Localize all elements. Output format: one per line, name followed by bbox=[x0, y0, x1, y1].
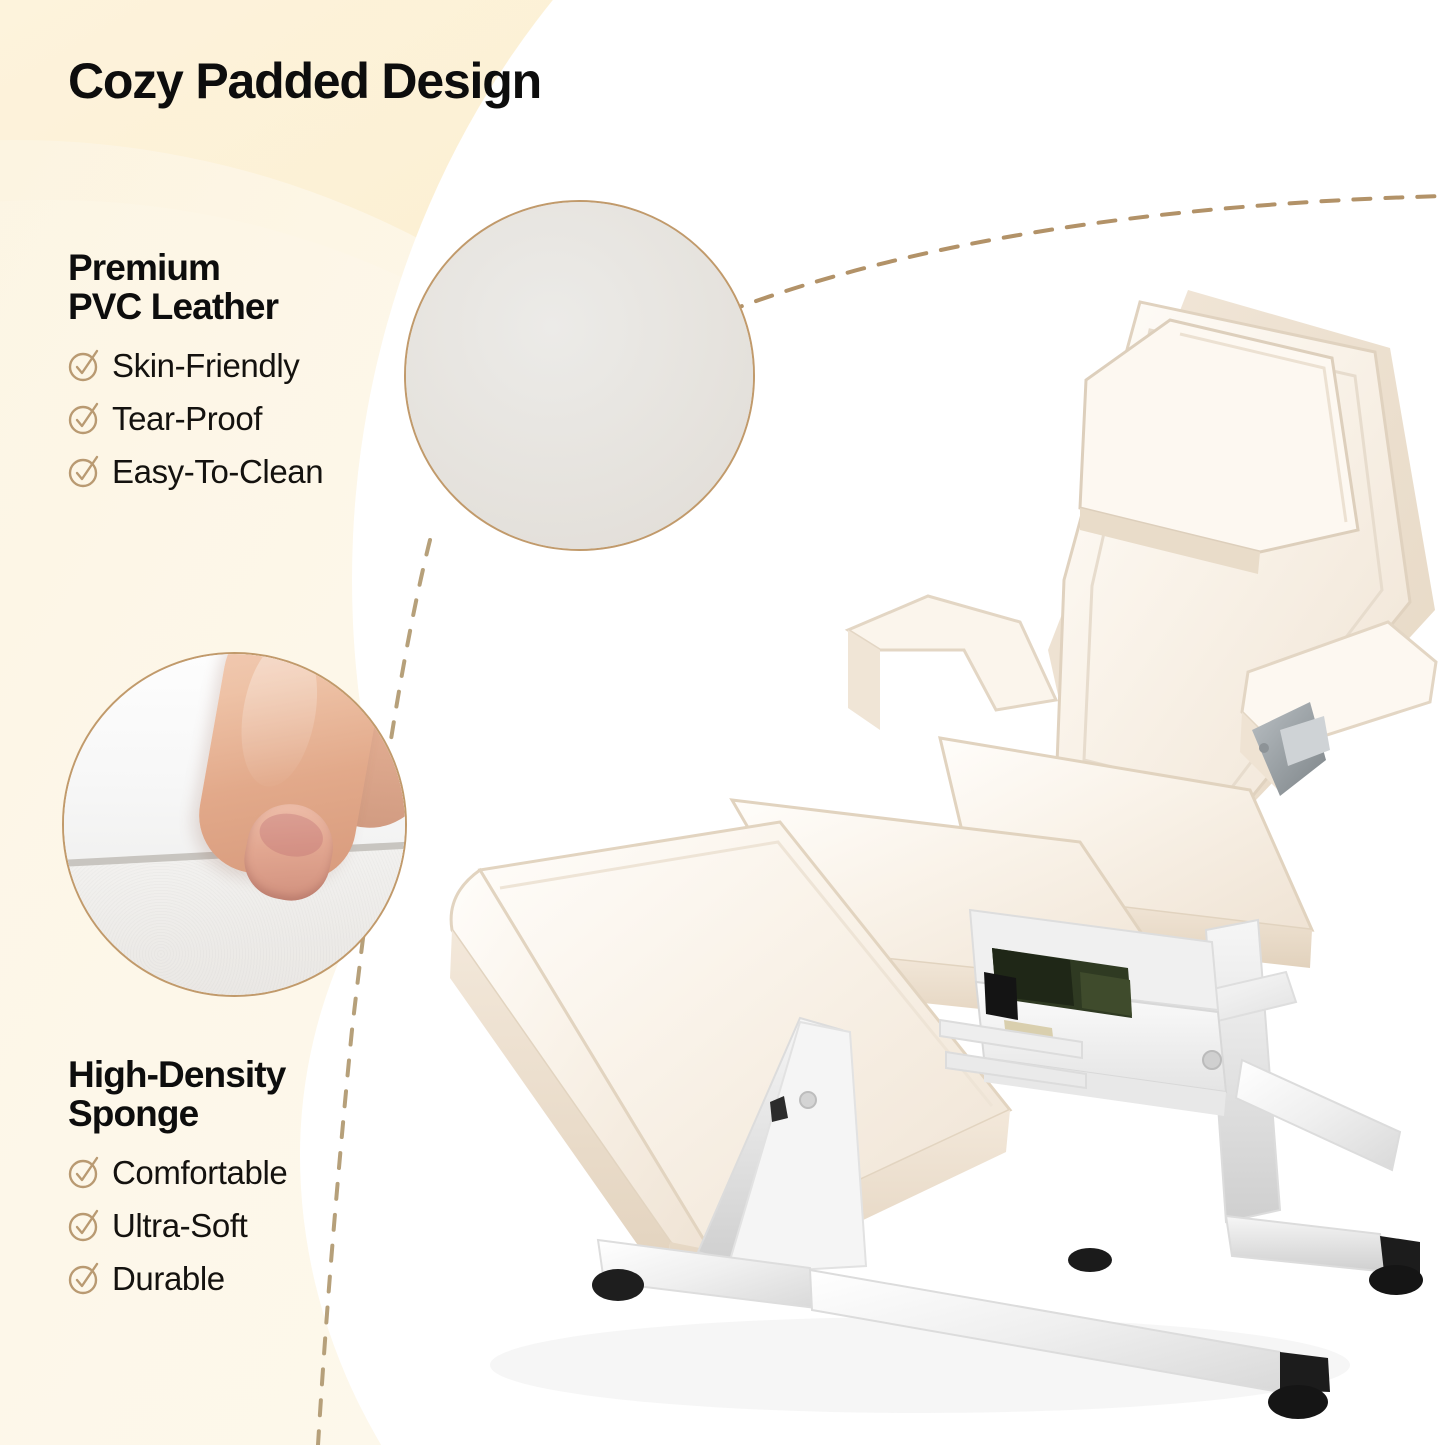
feature-block-premium-pvc-leather: Premium PVC Leather Skin-Friendly bbox=[68, 248, 323, 501]
feature-label: Easy-To-Clean bbox=[112, 455, 323, 488]
feature-block-high-density-sponge: High-Density Sponge Comfortable bbox=[68, 1055, 287, 1308]
feature-label: Comfortable bbox=[112, 1156, 287, 1189]
frame-foot-bar-right bbox=[1226, 1216, 1388, 1272]
check-circle-icon bbox=[68, 348, 102, 382]
check-circle-icon bbox=[68, 454, 102, 488]
check-circle-icon bbox=[68, 1208, 102, 1242]
feature-item: Durable bbox=[68, 1255, 287, 1301]
check-circle-icon bbox=[68, 1261, 102, 1295]
feature-list: Comfortable Ultra-Soft D bbox=[68, 1149, 287, 1301]
check-circle-icon bbox=[68, 1155, 102, 1189]
foot-pad-front-left bbox=[592, 1269, 644, 1301]
page-title: Cozy Padded Design bbox=[68, 52, 541, 110]
feature-item: Ultra-Soft bbox=[68, 1202, 287, 1248]
check-circle-icon bbox=[68, 401, 102, 435]
block-heading-line2: PVC Leather bbox=[68, 287, 323, 326]
feature-item: Skin-Friendly bbox=[68, 342, 323, 388]
feature-item: Comfortable bbox=[68, 1149, 287, 1195]
inset-sponge-closeup bbox=[62, 652, 407, 997]
block-heading-line1: Premium bbox=[68, 248, 323, 287]
feature-item: Tear-Proof bbox=[68, 395, 323, 441]
headrest-pillow bbox=[1080, 320, 1358, 552]
foot-pad-rear-right bbox=[1369, 1265, 1423, 1295]
foot-pad-rear-left bbox=[1068, 1248, 1112, 1272]
block-heading: High-Density Sponge bbox=[68, 1055, 287, 1133]
feature-label: Ultra-Soft bbox=[112, 1209, 247, 1242]
feature-item: Easy-To-Clean bbox=[68, 448, 323, 494]
frame-bolt-right bbox=[1203, 1051, 1221, 1069]
frame-bolt-left bbox=[800, 1092, 816, 1108]
marketing-banner: Cozy Padded Design Premium PVC Leather S… bbox=[0, 0, 1445, 1445]
leather-texture bbox=[406, 202, 753, 549]
foot-pad-front-right bbox=[1268, 1385, 1328, 1419]
feature-label: Skin-Friendly bbox=[112, 349, 299, 382]
block-heading-line2: Sponge bbox=[68, 1094, 287, 1133]
block-heading: Premium PVC Leather bbox=[68, 248, 323, 326]
feature-label: Tear-Proof bbox=[112, 402, 262, 435]
block-heading-line1: High-Density bbox=[68, 1055, 287, 1094]
feature-label: Durable bbox=[112, 1262, 225, 1295]
feature-list: Skin-Friendly Tear-Proof bbox=[68, 342, 323, 494]
inset-leather-closeup bbox=[404, 200, 755, 551]
